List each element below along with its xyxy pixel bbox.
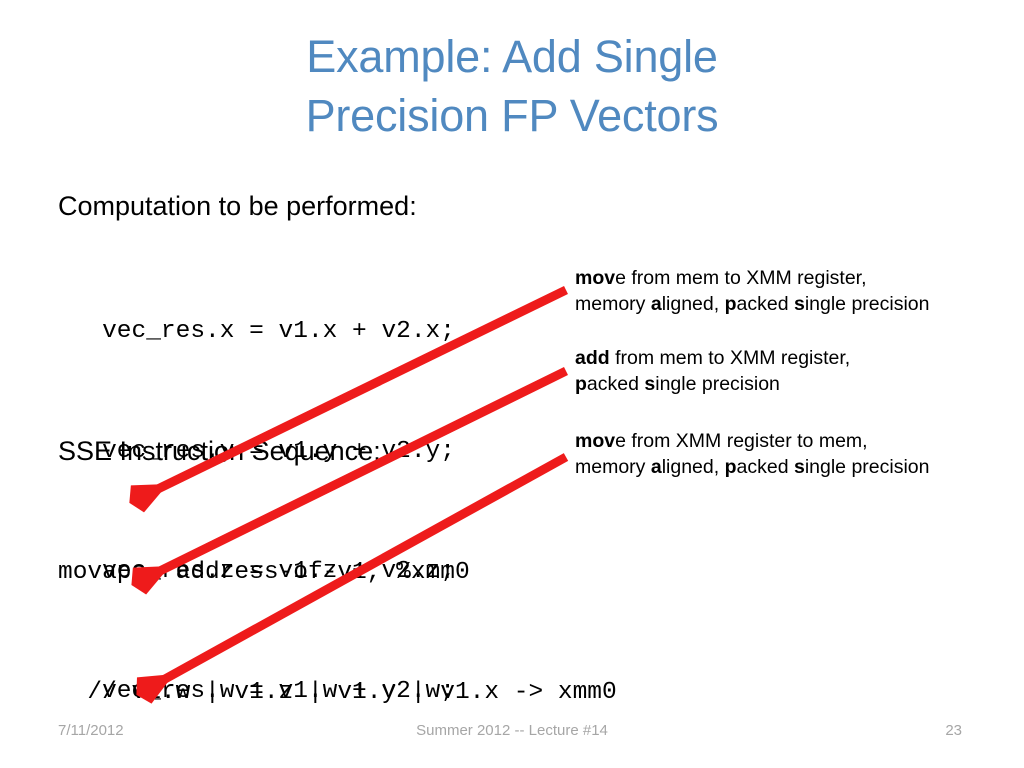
page-title-line-2: Precision FP Vectors	[64, 87, 960, 146]
annotation-movaps-store: move from XMM register to mem, memory al…	[575, 428, 1015, 480]
annotation-line: move from XMM register to mem,	[575, 428, 1015, 454]
annotation-line: memory aligned, packed single precision	[575, 454, 1015, 480]
sse-heading: SSE Instruction Sequence:	[58, 436, 381, 468]
sse-code-line: // v1.w | v1.z | v1.y | v1.x -> xmm0	[58, 673, 793, 713]
computation-code-line: vec_res.x = v1.x + v2.x;	[58, 312, 455, 352]
annotation-line: memory aligned, packed single precision	[575, 291, 1015, 317]
page-title: Example: Add Single Precision FP Vectors	[64, 28, 960, 145]
annotation-addps: add from mem to XMM register, packed sin…	[575, 345, 1015, 397]
page-title-line-1: Example: Add Single	[64, 28, 960, 87]
footer-course-label: Summer 2012 -- Lecture #14	[0, 722, 1024, 739]
slide-canvas: Example: Add Single Precision FP Vectors…	[0, 0, 1024, 768]
computation-heading: Computation to be performed:	[58, 191, 417, 223]
annotation-line: move from mem to XMM register,	[575, 265, 1015, 291]
annotation-movaps-load: move from mem to XMM register, memory al…	[575, 265, 1015, 317]
annotation-line: add from mem to XMM register,	[575, 345, 1015, 371]
slide-footer: 7/11/2012 Summer 2012 -- Lecture #14 23	[0, 722, 1024, 746]
annotation-line: packed single precision	[575, 371, 1015, 397]
footer-page-number: 23	[945, 722, 962, 739]
sse-code-line: movaps address-of-v1, %xmm0	[58, 553, 793, 593]
